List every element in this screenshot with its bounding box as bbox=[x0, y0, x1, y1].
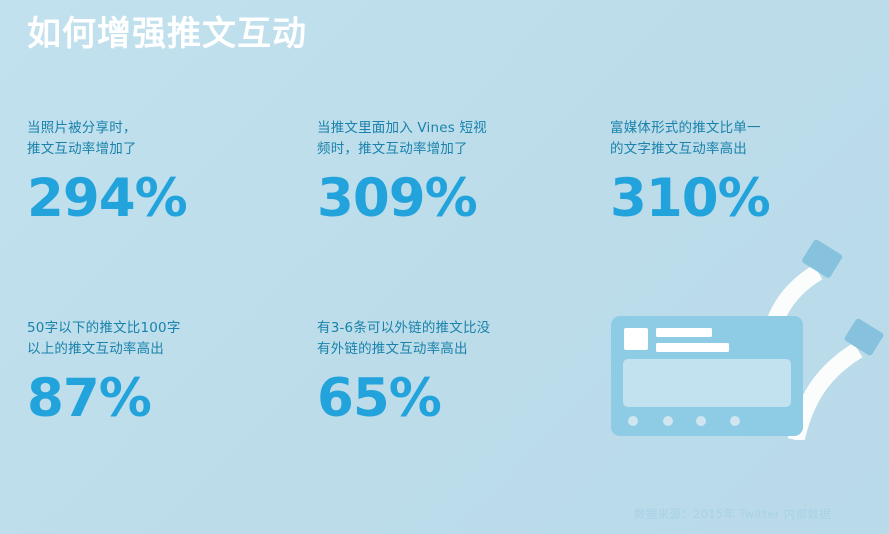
stat-card-external-links: 有3-6条可以外链的推文比没 有外链的推文互动率高出 65% bbox=[317, 318, 585, 428]
stat-value: 294% bbox=[27, 170, 295, 228]
stat-value: 87% bbox=[27, 370, 295, 428]
data-source-note: 数据来源：2015年 Twitter 内部数据 bbox=[634, 506, 831, 522]
stat-caption-line: 50字以下的推文比100字 bbox=[27, 318, 295, 339]
stat-caption-line: 以上的推文互动率高出 bbox=[27, 339, 295, 360]
card-text-line-1-icon bbox=[656, 328, 712, 337]
stat-caption-line: 富媒体形式的推文比单一 bbox=[610, 118, 878, 139]
tweet-card-illustration bbox=[600, 240, 889, 440]
card-dot-icon bbox=[730, 416, 740, 426]
stat-value: 65% bbox=[317, 370, 585, 428]
stat-caption: 50字以下的推文比100字 以上的推文互动率高出 bbox=[27, 318, 295, 360]
card-dot-icon bbox=[696, 416, 706, 426]
stat-card-short-tweets: 50字以下的推文比100字 以上的推文互动率高出 87% bbox=[27, 318, 295, 428]
tweet-card-body-icon bbox=[611, 316, 803, 436]
card-dot-icon bbox=[628, 416, 638, 426]
stat-caption-line: 频时，推文互动率增加了 bbox=[317, 139, 585, 160]
avatar-placeholder-icon bbox=[624, 328, 648, 350]
stat-value: 309% bbox=[317, 170, 585, 228]
growth-arrow-lower-icon bbox=[796, 317, 884, 440]
stat-value: 310% bbox=[610, 170, 878, 228]
stat-card-photo-shares: 当照片被分享时， 推文互动率增加了 294% bbox=[27, 118, 295, 228]
card-dot-icon bbox=[663, 416, 673, 426]
card-text-line-2-icon bbox=[656, 343, 729, 352]
stat-caption-line: 有3-6条可以外链的推文比没 bbox=[317, 318, 585, 339]
stat-caption-line: 当照片被分享时， bbox=[27, 118, 295, 139]
stat-card-vines-video: 当推文里面加入 Vines 短视 频时，推文互动率增加了 309% bbox=[317, 118, 585, 228]
stat-caption: 有3-6条可以外链的推文比没 有外链的推文互动率高出 bbox=[317, 318, 585, 360]
stat-caption: 当照片被分享时， 推文互动率增加了 bbox=[27, 118, 295, 160]
stat-caption-line: 推文互动率增加了 bbox=[27, 139, 295, 160]
stat-caption-line: 当推文里面加入 Vines 短视 bbox=[317, 118, 585, 139]
stat-card-rich-media: 富媒体形式的推文比单一 的文字推文互动率高出 310% bbox=[610, 118, 878, 228]
stat-caption-line: 有外链的推文互动率高出 bbox=[317, 339, 585, 360]
page-title: 如何增强推文互动 bbox=[27, 12, 307, 56]
stat-caption: 当推文里面加入 Vines 短视 频时，推文互动率增加了 bbox=[317, 118, 585, 160]
stat-caption: 富媒体形式的推文比单一 的文字推文互动率高出 bbox=[610, 118, 878, 160]
card-media-box-icon bbox=[623, 359, 791, 407]
infographic-poster: 如何增强推文互动 当照片被分享时， 推文互动率增加了 294% 当推文里面加入 … bbox=[0, 0, 889, 534]
stat-caption-line: 的文字推文互动率高出 bbox=[610, 139, 878, 160]
